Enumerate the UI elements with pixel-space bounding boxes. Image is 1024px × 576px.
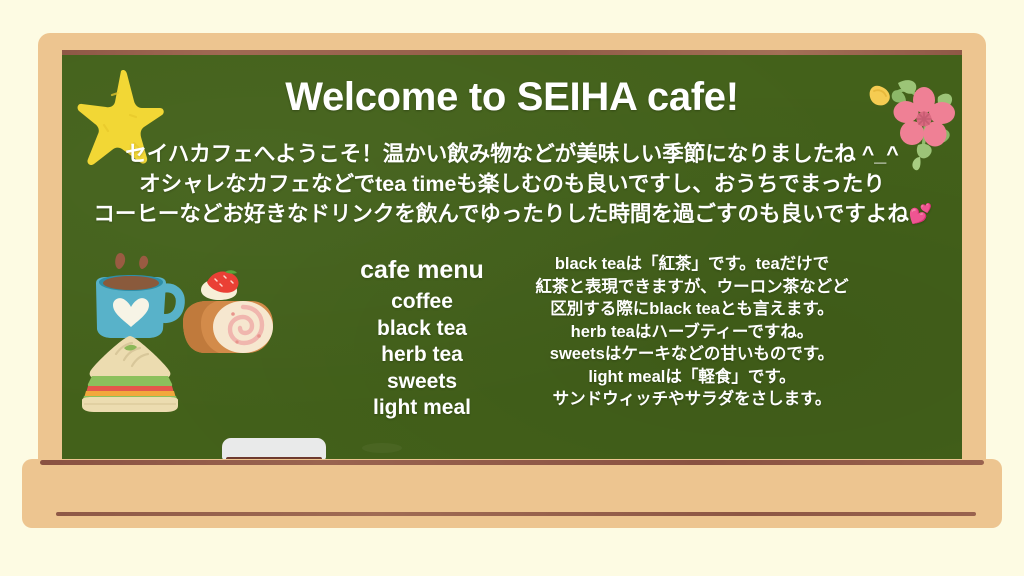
intro-line-1: セイハカフェへようこそ！温かい飲み物などが美味しい季節になりましたね ^_^ [62, 139, 962, 169]
sandwich-icon [74, 330, 186, 423]
chalk-tray-top-line [40, 460, 984, 465]
chalk-tray-bottom-line [56, 512, 976, 516]
note-line-6: light mealは「軽食」です。 [482, 366, 902, 389]
eraser-felt [222, 438, 326, 459]
chalkboard-surface: Welcome to SEIHA cafe! セイハカフェへようこそ！温かい飲み… [62, 55, 962, 459]
chalk-smudge [362, 443, 402, 453]
note-line-2: 紅茶と表現できますが、ウーロン茶などど [482, 276, 902, 299]
chalkboard-eraser-icon [222, 438, 326, 459]
note-line-7: サンドウィッチやサラダをさします。 [482, 388, 902, 411]
intro-line-3-text: コーヒーなどお好きなドリンクを飲んでゆったりした時間を過ごすのも良いですよね [93, 202, 909, 226]
note-line-5: sweetsはケーキなどの甘いものです。 [482, 343, 902, 366]
intro-line-2: オシャレなカフェなどでtea timeも楽しむのも良いですし、おうちでまったり [62, 169, 962, 199]
hearts-icon: 💕 [909, 204, 931, 225]
menu-notes-block: black teaは「紅茶」です。teaだけで 紅茶と表現できますが、ウーロン茶… [482, 253, 902, 411]
slide-canvas: Welcome to SEIHA cafe! セイハカフェへようこそ！温かい飲み… [0, 0, 1024, 576]
page-title: Welcome to SEIHA cafe! [62, 75, 962, 120]
note-line-1: black teaは「紅茶」です。teaだけで [482, 253, 902, 276]
intro-paragraph: セイハカフェへようこそ！温かい飲み物などが美味しい季節になりましたね ^_^ オ… [62, 139, 962, 230]
intro-line-3: コーヒーなどお好きなドリンクを飲んでゆったりした時間を過ごすのも良いですよね💕 [62, 199, 962, 230]
note-line-4: herb teaはハーブティーですね。 [482, 321, 902, 344]
chalk-tray [22, 459, 1002, 528]
note-line-3: 区別する際にblack teaとも言えます。 [482, 298, 902, 321]
